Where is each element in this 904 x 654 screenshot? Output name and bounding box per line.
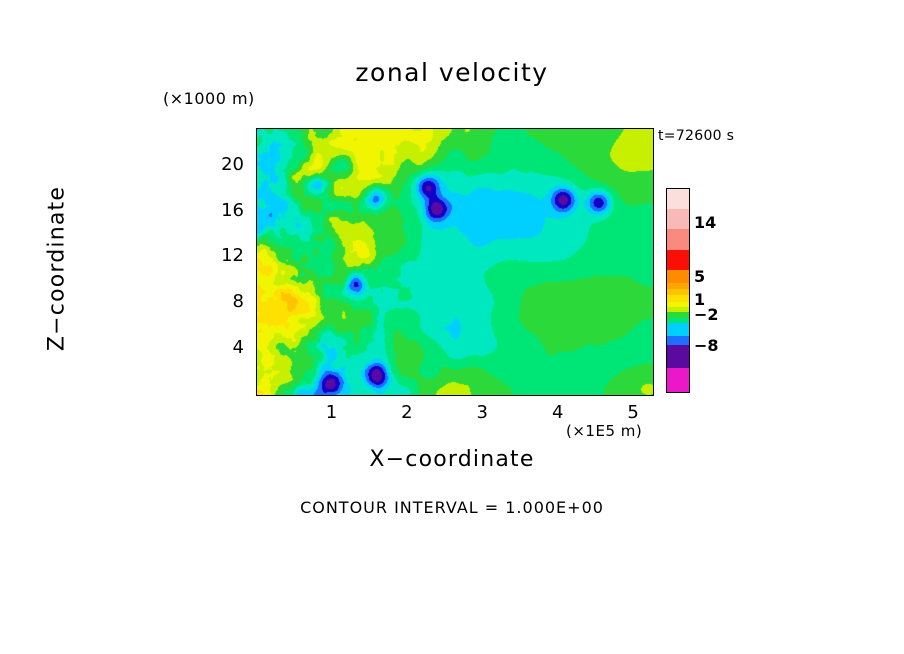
y-tick-label: 12	[210, 245, 244, 266]
y-tick-label: 20	[210, 154, 244, 175]
colorbar-tick-label: −2	[694, 305, 719, 324]
x-tick-label: 1	[316, 402, 346, 423]
x-tick-label: 2	[392, 402, 422, 423]
x-tick-label: 4	[543, 402, 573, 423]
contour-plot-frame	[256, 128, 654, 396]
colorbar-band	[667, 250, 689, 270]
colorbar-tick-label: −8	[694, 336, 719, 355]
y-tick-label: 16	[210, 200, 244, 221]
colorbar-tick-label: 14	[694, 213, 716, 232]
velocity-field-image	[257, 129, 653, 395]
colorbar-band	[667, 336, 689, 346]
y-tick-label: 8	[210, 291, 244, 312]
x-axis-unit-label: (×1E5 m)	[566, 422, 642, 440]
y-axis-title: Z−coordinate	[45, 154, 70, 384]
contour-interval-caption: CONTOUR INTERVAL = 1.000E+00	[0, 498, 904, 517]
x-tick-label: 3	[467, 402, 497, 423]
colorbar-band	[667, 209, 689, 229]
colorbar-band	[667, 270, 689, 283]
y-axis-unit-label: (×1000 m)	[163, 89, 255, 108]
colorbar-band	[667, 345, 689, 367]
colorbar-tick-label: 5	[694, 267, 705, 286]
x-axis-title: X−coordinate	[0, 447, 904, 472]
colorbar	[666, 188, 690, 393]
x-tick-label: 5	[618, 402, 648, 423]
timestamp-label: t=72600 s	[658, 128, 734, 144]
colorbar-band	[667, 323, 689, 336]
y-tick-label: 4	[210, 337, 244, 358]
colorbar-band	[667, 189, 689, 209]
colorbar-band	[667, 229, 689, 249]
colorbar-band	[667, 368, 689, 392]
page-title: zonal velocity	[0, 58, 904, 87]
plot-canvas: zonal velocity (×1000 m) (×1E5 m) t=7260…	[0, 0, 904, 654]
